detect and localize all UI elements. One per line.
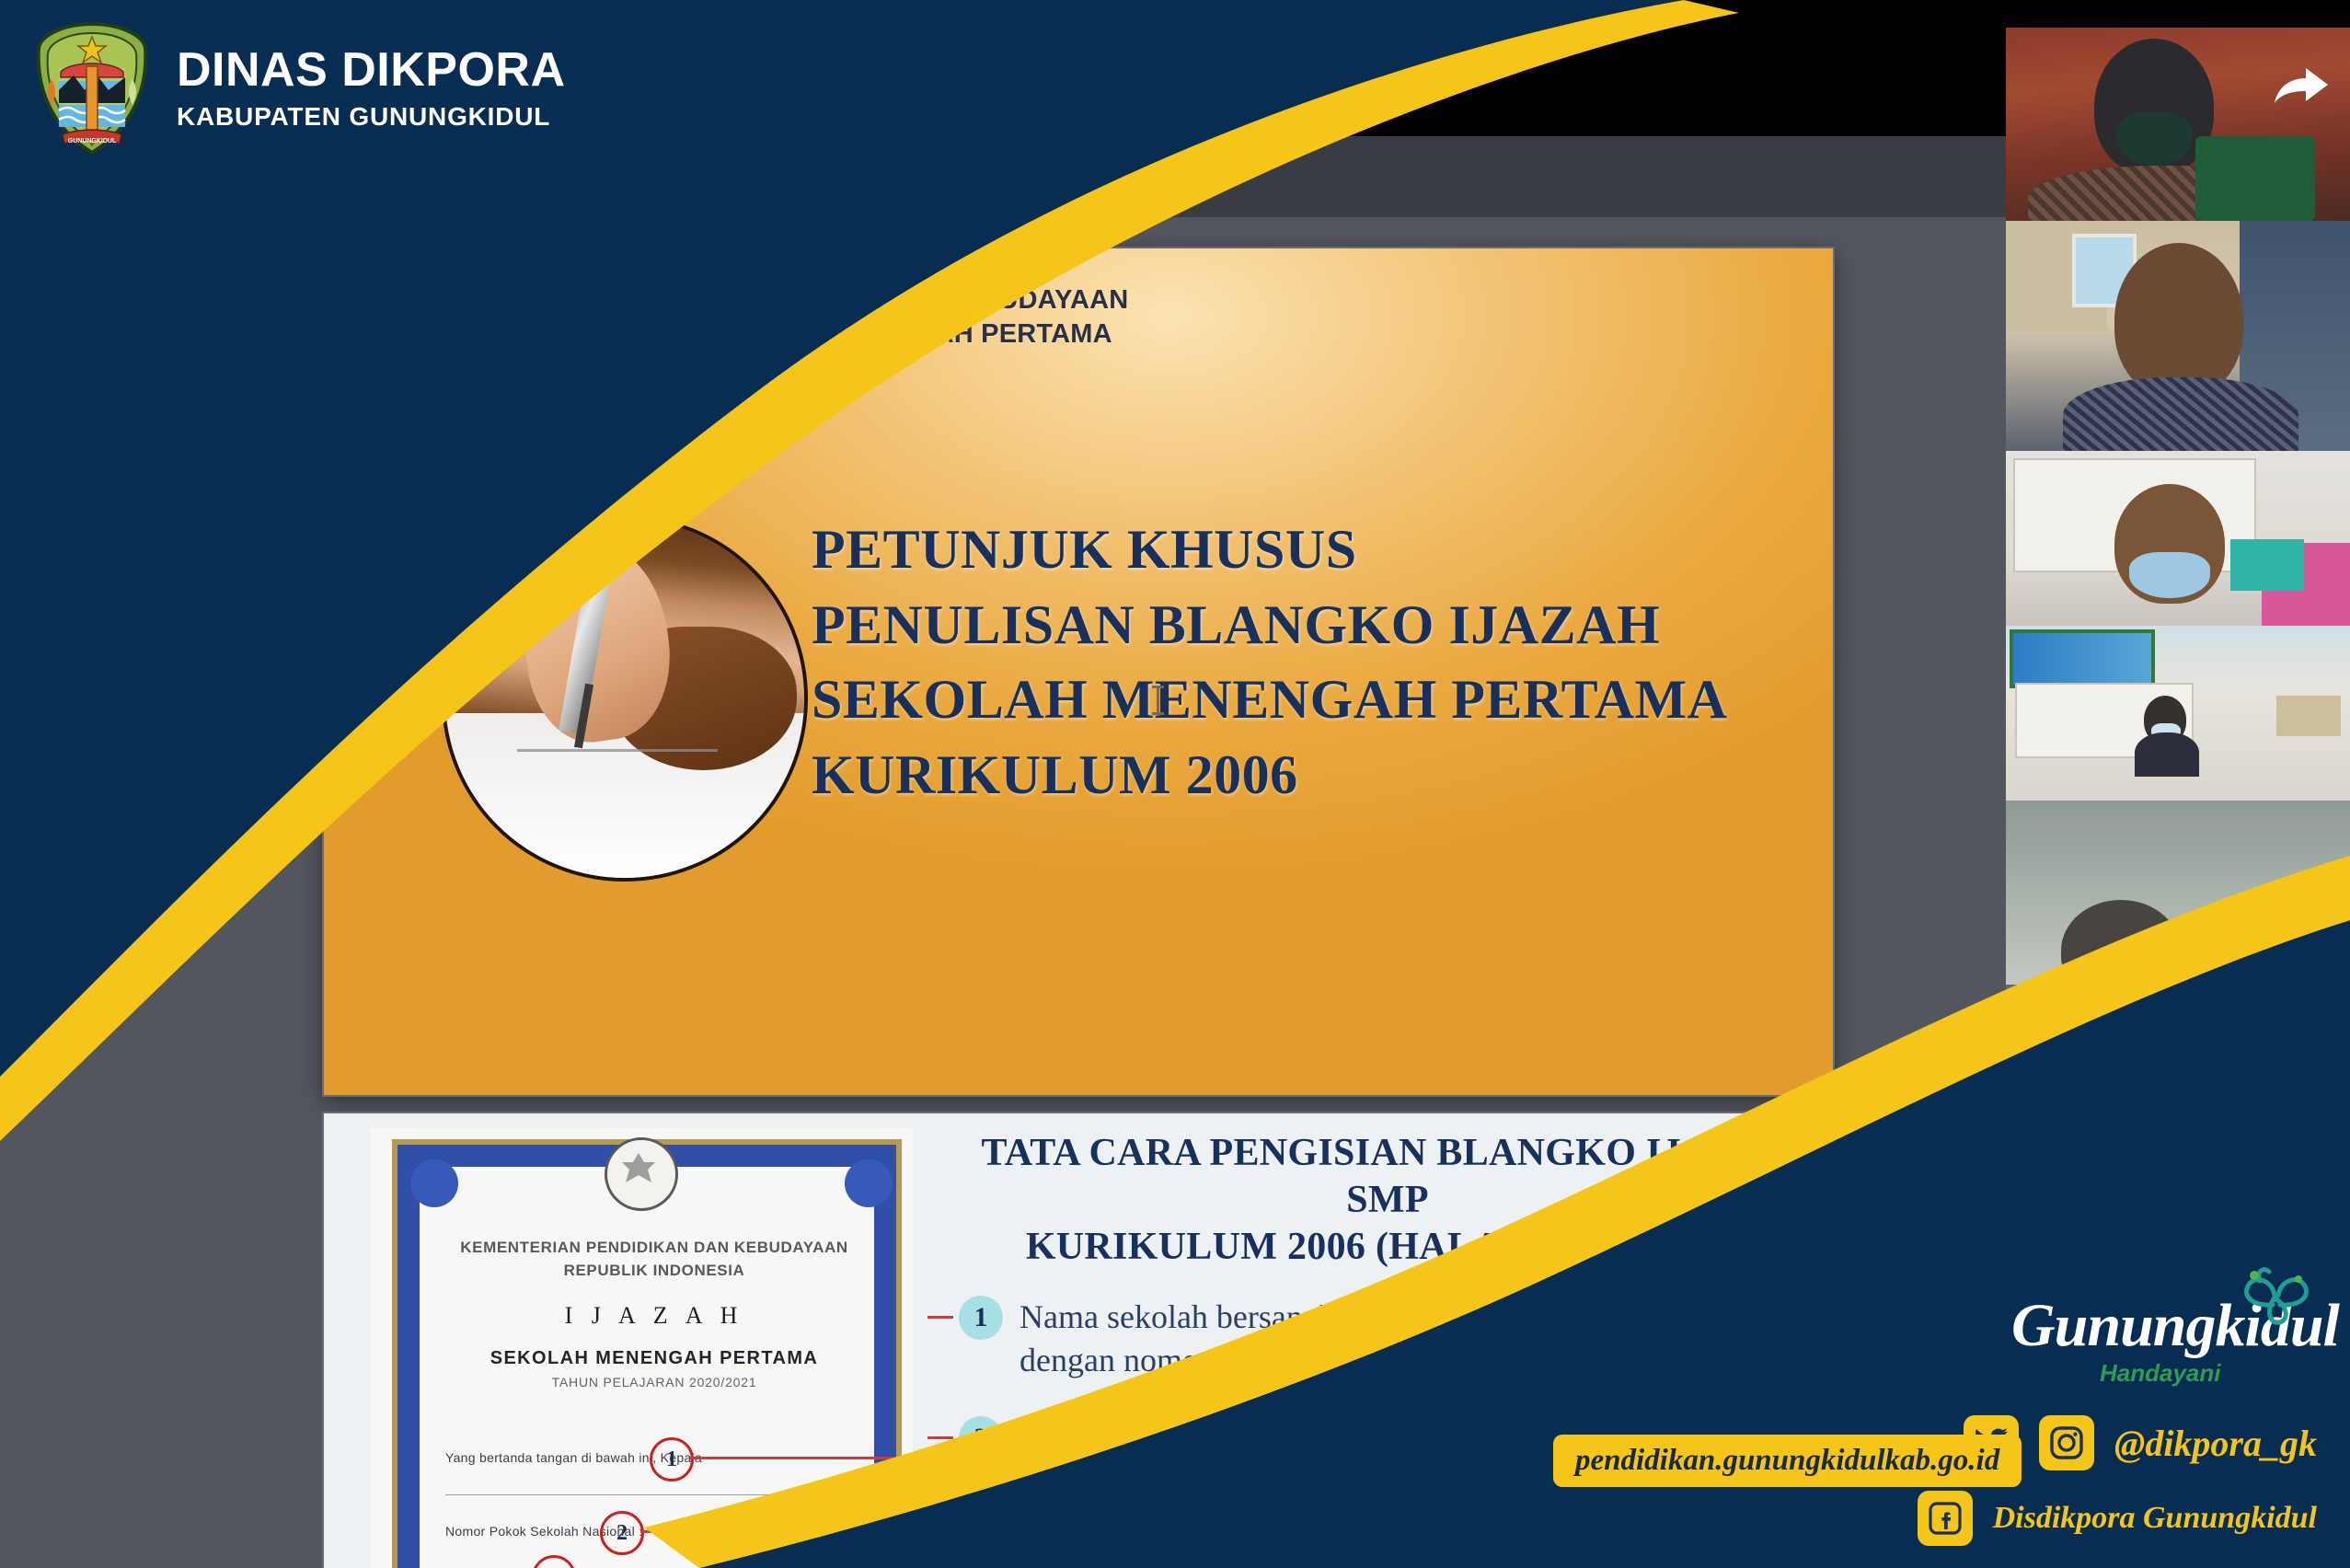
participant-video-5[interactable] xyxy=(2006,801,2350,985)
org-website: ditsmp.kemdikbud.go.id xyxy=(495,355,1128,389)
facebook-icon[interactable] xyxy=(1918,1491,1973,1546)
slide1-title-line-3: SEKOLAH MENENGAH PERTAMA xyxy=(812,663,1728,738)
slide2-item-text: Nama nomenklatur kabupaten/kota*) (coret… xyxy=(1019,1492,1816,1568)
slide2-item-number: 2 xyxy=(959,1416,1003,1460)
pdf-toolbar-controls: 12 / 55 − 100% + xyxy=(589,158,1058,199)
slide1-title-line-2: PENULISAN BLANGKO IJAZAH xyxy=(812,588,1728,663)
butterfly-ornament-icon xyxy=(2232,1257,2321,1336)
share-arrow-icon[interactable] xyxy=(2273,66,2330,110)
website-url: pendidikan.gunungkidulkab.go.id xyxy=(1575,1444,1999,1477)
zoom-in-button[interactable]: + xyxy=(872,158,913,199)
page-separator: / xyxy=(633,165,655,193)
screenshot-root: 12 / 55 − 100% + xyxy=(0,0,2350,1568)
toolbar-divider-1 xyxy=(707,166,708,191)
tut-wuri-handayani-logo-icon: TUT WURI HANDAYANI xyxy=(351,269,480,398)
garuda-pancasila-icon xyxy=(605,1137,678,1211)
cert-level: SEKOLAH MENENGAH PERTAMA xyxy=(442,1348,867,1369)
slide1-title-line-4: KURIKULUM 2006 xyxy=(812,738,1728,813)
slide2-list-item: 3 Nama nomenklatur kabupaten/kota*) (cor… xyxy=(959,1492,1816,1568)
social-handle-bottom[interactable]: Disdikpora Gunungkidul xyxy=(1993,1501,2317,1536)
ijazah-certificate-image: KEMENTERIAN PENDIDIKAN DAN KEBUDAYAAN RE… xyxy=(370,1128,913,1568)
cert-ministry-line-2: REPUBLIK INDONESIA xyxy=(442,1260,867,1283)
slide2-content: TATA CARA PENGISIAN BLANGKO IJAZAH SMP K… xyxy=(959,1130,1816,1568)
org-line-1: KEMENTERIAN PENDIDIKAN DAN KEBUDAYAAN xyxy=(495,283,1128,317)
slide2-item-number: 1 xyxy=(959,1296,1003,1340)
slide2-list-item: 1 Nama sekolah bersangkutan yang menerbi… xyxy=(959,1296,1816,1383)
cert-ministry-line-1: KEMENTERIAN PENDIDIKAN DAN KEBUDAYAAN xyxy=(442,1237,867,1260)
participant-video-4[interactable] xyxy=(2006,626,2350,801)
brand-header: GUNUNGKIDUL DINAS DIKPORA KABUPATEN GUNU… xyxy=(31,20,566,156)
zoom-level-input[interactable]: 100% xyxy=(777,161,870,197)
rotate-icon[interactable] xyxy=(1018,158,1058,199)
cert-marker-1: 1 xyxy=(650,1437,694,1482)
participant-video-6[interactable] xyxy=(2006,985,2350,1169)
brand-title: DINAS DIKPORA xyxy=(177,46,566,94)
org-line-2: DIREKTORAT SEKOLAH MENENGAH PERTAMA xyxy=(495,317,1128,352)
toolbar-divider-2 xyxy=(937,166,939,191)
slide2-item-text: Nomor Pokok Sekolah Nasional (NPSN) xyxy=(1019,1416,1562,1460)
strip-top-bar xyxy=(2006,0,2350,28)
slide2-title-line-2: KURIKULUM 2006 (HALAMAN DEPAN) xyxy=(959,1224,1816,1271)
gk-logo-tagline: Handayani xyxy=(2100,1359,2315,1388)
fit-page-icon[interactable] xyxy=(962,158,1003,199)
slide2-title-line-1: TATA CARA PENGISIAN BLANGKO IJAZAH SMP xyxy=(959,1130,1816,1224)
gunungkidul-regency-crest-icon: GUNUNGKIDUL xyxy=(31,20,153,156)
gunungkidul-handayani-logo: Gunungkidul Handayani xyxy=(2011,1297,2315,1388)
slide1-title-line-1: PETUNJUK KHUSUS xyxy=(812,513,1728,588)
pdf-page-slide-1[interactable]: TUT WURI HANDAYANI KEMENTERIAN PENDIDIKA… xyxy=(324,248,1833,1095)
zoom-out-button[interactable]: − xyxy=(732,158,773,199)
slide1-title: PETUNJUK KHUSUS PENULISAN BLANGKO IJAZAH… xyxy=(812,513,1728,813)
cert-marker-2: 2 xyxy=(600,1511,644,1555)
cert-year: TAHUN PELAJARAN 2020/2021 xyxy=(442,1375,867,1389)
svg-text:GUNUNGKIDUL: GUNUNGKIDUL xyxy=(68,138,117,144)
social-handle-top[interactable]: @dikpora_gk xyxy=(2114,1422,2317,1465)
screen-share-area: 12 / 55 − 100% + xyxy=(0,0,2006,1568)
total-pages-label: 55 xyxy=(655,165,683,193)
pdf-page-slide-2[interactable]: KEMENTERIAN PENDIDIKAN DAN KEBUDAYAAN RE… xyxy=(324,1113,1833,1568)
participant-video-1[interactable] xyxy=(2006,28,2350,221)
svg-text:TUT WURI HANDAYANI: TUT WURI HANDAYANI xyxy=(375,282,456,291)
website-badge[interactable]: pendidikan.gunungkidulkab.go.id xyxy=(1553,1435,2022,1487)
certificate-header-text: KEMENTERIAN PENDIDIKAN DAN KEBUDAYAAN RE… xyxy=(442,1237,867,1389)
participant-video-3[interactable] xyxy=(2006,451,2350,626)
page-number-input[interactable]: 12 xyxy=(589,162,633,196)
hand-writing-with-pencil-photo xyxy=(442,515,808,882)
slide2-item-text: Nama sekolah bersangkutan yang menerbitk… xyxy=(1019,1296,1816,1383)
social-row-bottom: Disdikpora Gunungkidul xyxy=(1918,1491,2317,1546)
slide1-organization-header: KEMENTERIAN PENDIDIKAN DAN KEBUDAYAAN DI… xyxy=(495,283,1128,389)
text-cursor-icon xyxy=(1157,686,1159,715)
instagram-icon[interactable] xyxy=(2039,1415,2094,1470)
cert-doc-title: I J A Z A H xyxy=(442,1302,867,1330)
slide2-item-number: 3 xyxy=(959,1492,1003,1536)
brand-subtitle: KABUPATEN GUNUNGKIDUL xyxy=(177,102,566,132)
participant-video-2[interactable] xyxy=(2006,221,2350,451)
